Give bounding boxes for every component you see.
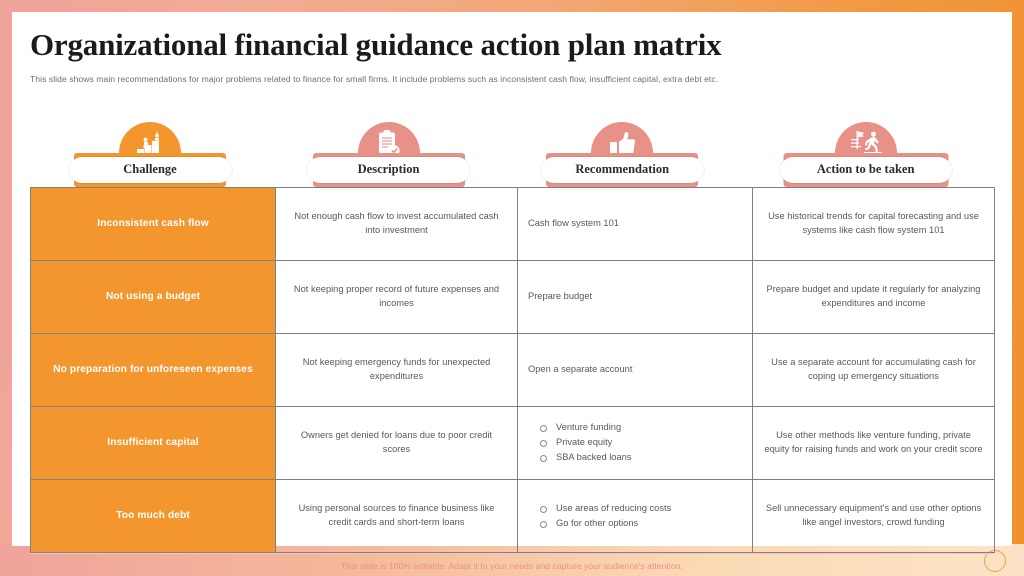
table-row[interactable]: Insufficient capital Owners get denied f…: [31, 406, 995, 479]
header-column-action[interactable]: Action to be taken: [737, 99, 994, 187]
cell-recommendation: Open a separate account: [518, 333, 753, 406]
header-column-description[interactable]: Description: [270, 99, 507, 187]
header-label-challenge[interactable]: Challenge: [69, 157, 232, 183]
header-label-action[interactable]: Action to be taken: [780, 157, 952, 183]
list-item: Go for other options: [540, 516, 742, 531]
cell-challenge: No preparation for unforeseen expenses: [31, 333, 276, 406]
slide-footer: This slide is 100% editable. Adapt it to…: [30, 553, 994, 576]
table-row[interactable]: No preparation for unforeseen expenses N…: [31, 333, 995, 406]
cell-recommendation: Venture fundingPrivate equitySBA backed …: [518, 406, 753, 479]
list-item: Use areas of reducing costs: [540, 501, 742, 516]
cell-recommendation: Use areas of reducing costsGo for other …: [518, 479, 753, 552]
cell-action: Use historical trends for capital foreca…: [753, 187, 995, 260]
table-row[interactable]: Not using a budget Not keeping proper re…: [31, 260, 995, 333]
action-plan-matrix-table: Inconsistent cash flow Not enough cash f…: [30, 187, 995, 553]
slide-content: Organizational financial guidance action…: [12, 12, 1012, 553]
recommendation-bullet-list: Venture fundingPrivate equitySBA backed …: [528, 420, 742, 465]
cell-description: Not keeping emergency funds for unexpect…: [276, 333, 518, 406]
cell-action: Use other methods like venture funding, …: [753, 406, 995, 479]
list-item: Venture funding: [540, 420, 742, 435]
cell-action: Use a separate account for accumulating …: [753, 333, 995, 406]
cell-description: Using personal sources to finance busine…: [276, 479, 518, 552]
cell-recommendation: Prepare budget: [518, 260, 753, 333]
cell-challenge: Not using a budget: [31, 260, 276, 333]
header-label-recommendation[interactable]: Recommendation: [541, 157, 704, 183]
cell-action: Prepare budget and update it regularly f…: [753, 260, 995, 333]
editable-note: This slide is 100% editable. Adapt it to…: [341, 561, 683, 571]
page-subtitle: This slide shows main recommendations fo…: [30, 74, 994, 85]
list-item: SBA backed loans: [540, 450, 742, 465]
table-row[interactable]: Inconsistent cash flow Not enough cash f…: [31, 187, 995, 260]
cell-description: Not keeping proper record of future expe…: [276, 260, 518, 333]
slide-canvas: Organizational financial guidance action…: [12, 12, 1012, 546]
header-column-recommendation[interactable]: Recommendation: [507, 99, 737, 187]
matrix-body: Inconsistent cash flow Not enough cash f…: [31, 187, 995, 552]
matrix-header-row: Challenge: [30, 99, 994, 187]
cell-description: Owners get denied for loans due to poor …: [276, 406, 518, 479]
recommendation-bullet-list: Use areas of reducing costsGo for other …: [528, 501, 742, 531]
header-column-challenge[interactable]: Challenge: [30, 99, 270, 187]
cell-recommendation: Cash flow system 101: [518, 187, 753, 260]
page-title: Organizational financial guidance action…: [30, 28, 994, 63]
list-item: Private equity: [540, 435, 742, 450]
cell-action: Sell unnecessary equipment's and use oth…: [753, 479, 995, 552]
header-label-description[interactable]: Description: [307, 157, 470, 183]
cell-challenge: Too much debt: [31, 479, 276, 552]
table-row[interactable]: Too much debt Using personal sources to …: [31, 479, 995, 552]
cell-challenge: Inconsistent cash flow: [31, 187, 276, 260]
cell-challenge: Insufficient capital: [31, 406, 276, 479]
cell-description: Not enough cash flow to invest accumulat…: [276, 187, 518, 260]
